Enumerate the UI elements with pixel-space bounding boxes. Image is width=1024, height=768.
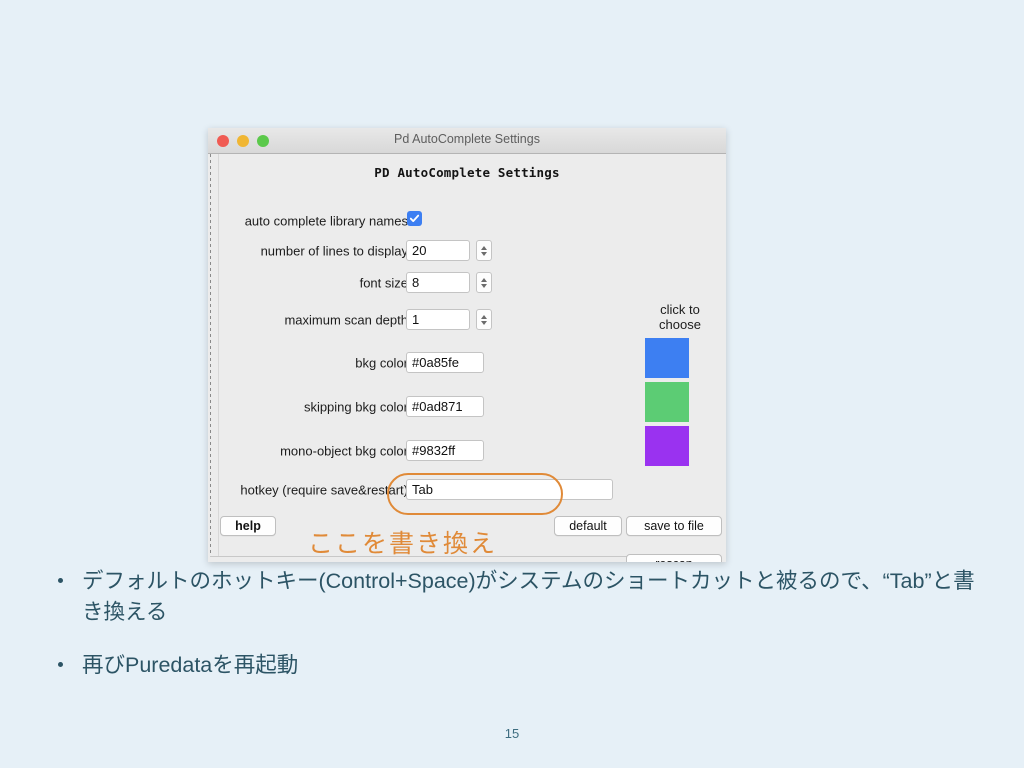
- bkg-color-input[interactable]: #0a85fe: [406, 352, 484, 373]
- click-to-choose-line2: choose: [640, 317, 720, 332]
- save-to-file-button[interactable]: save to file: [626, 516, 722, 536]
- maximum-scan-depth-input[interactable]: 1: [406, 309, 470, 330]
- chevron-up-icon[interactable]: [481, 278, 487, 282]
- font-size-stepper[interactable]: [476, 272, 492, 293]
- click-to-choose-line1: click to: [640, 302, 720, 317]
- label-bkg-color: bkg color: [355, 356, 408, 371]
- font-size-input[interactable]: 8: [406, 272, 470, 293]
- annotation-text: ここを書き換え: [308, 524, 497, 560]
- color-swatch-mono-object-bkg[interactable]: [645, 426, 689, 466]
- patch-canvas: PD AutoComplete Settings auto complete l…: [208, 154, 726, 562]
- chevron-down-icon[interactable]: [481, 284, 487, 288]
- label-maximum-scan-depth: maximum scan depth: [284, 313, 408, 328]
- page-number: 15: [0, 726, 1024, 741]
- pd-autocomplete-settings-window: Pd AutoComplete Settings PD AutoComplete…: [208, 128, 726, 562]
- skipping-bkg-color-input[interactable]: #0ad871: [406, 396, 484, 417]
- bullet-dot-icon: [58, 662, 63, 667]
- help-button[interactable]: help: [220, 516, 276, 536]
- auto-complete-library-names-checkbox[interactable]: [407, 211, 422, 226]
- label-font-size: font size: [360, 276, 408, 291]
- checkmark-icon: [409, 213, 420, 224]
- row-number-of-lines-to-display: number of lines to display 20: [208, 240, 726, 262]
- label-mono-object-bkg-color: mono-object bkg color: [280, 444, 408, 459]
- label-skipping-bkg-color: skipping bkg color: [304, 400, 408, 415]
- chevron-down-icon[interactable]: [481, 321, 487, 325]
- row-font-size: font size 8: [208, 272, 726, 294]
- chevron-up-icon[interactable]: [481, 246, 487, 250]
- bullet-text: デフォルトのホットキー(Control+Space)がシステムのショートカットと…: [82, 569, 975, 624]
- mono-object-bkg-color-input[interactable]: #9832ff: [406, 440, 484, 461]
- number-of-lines-stepper[interactable]: [476, 240, 492, 261]
- bullet-text: 再びPuredataを再起動: [82, 653, 298, 677]
- bullet-dot-icon: [58, 578, 63, 583]
- patch-heading: PD AutoComplete Settings: [208, 165, 726, 180]
- color-swatch-bkg[interactable]: [645, 338, 689, 378]
- number-of-lines-input[interactable]: 20: [406, 240, 470, 261]
- label-number-of-lines-to-display: number of lines to display: [261, 244, 408, 259]
- row-auto-complete-library-names: auto complete library names: [208, 210, 726, 232]
- chevron-up-icon[interactable]: [481, 315, 487, 319]
- label-auto-complete-library-names: auto complete library names: [245, 214, 408, 229]
- slide-bullet-list: デフォルトのホットキー(Control+Space)がシステムのショートカットと…: [48, 566, 978, 703]
- list-item: 再びPuredataを再起動: [48, 650, 978, 681]
- window-title: Pd AutoComplete Settings: [208, 132, 726, 146]
- hotkey-input[interactable]: Tab: [406, 479, 613, 500]
- click-to-choose-caption: click to choose: [640, 302, 720, 332]
- chevron-down-icon[interactable]: [481, 252, 487, 256]
- rescan-button[interactable]: rescan: [626, 554, 722, 562]
- default-button[interactable]: default: [554, 516, 622, 536]
- color-swatch-skipping-bkg[interactable]: [645, 382, 689, 422]
- window-titlebar[interactable]: Pd AutoComplete Settings: [208, 128, 726, 154]
- list-item: デフォルトのホットキー(Control+Space)がシステムのショートカットと…: [48, 566, 978, 628]
- label-hotkey: hotkey (require save&restart): [240, 483, 408, 498]
- maximum-scan-depth-stepper[interactable]: [476, 309, 492, 330]
- row-hotkey: hotkey (require save&restart) Tab: [208, 479, 726, 501]
